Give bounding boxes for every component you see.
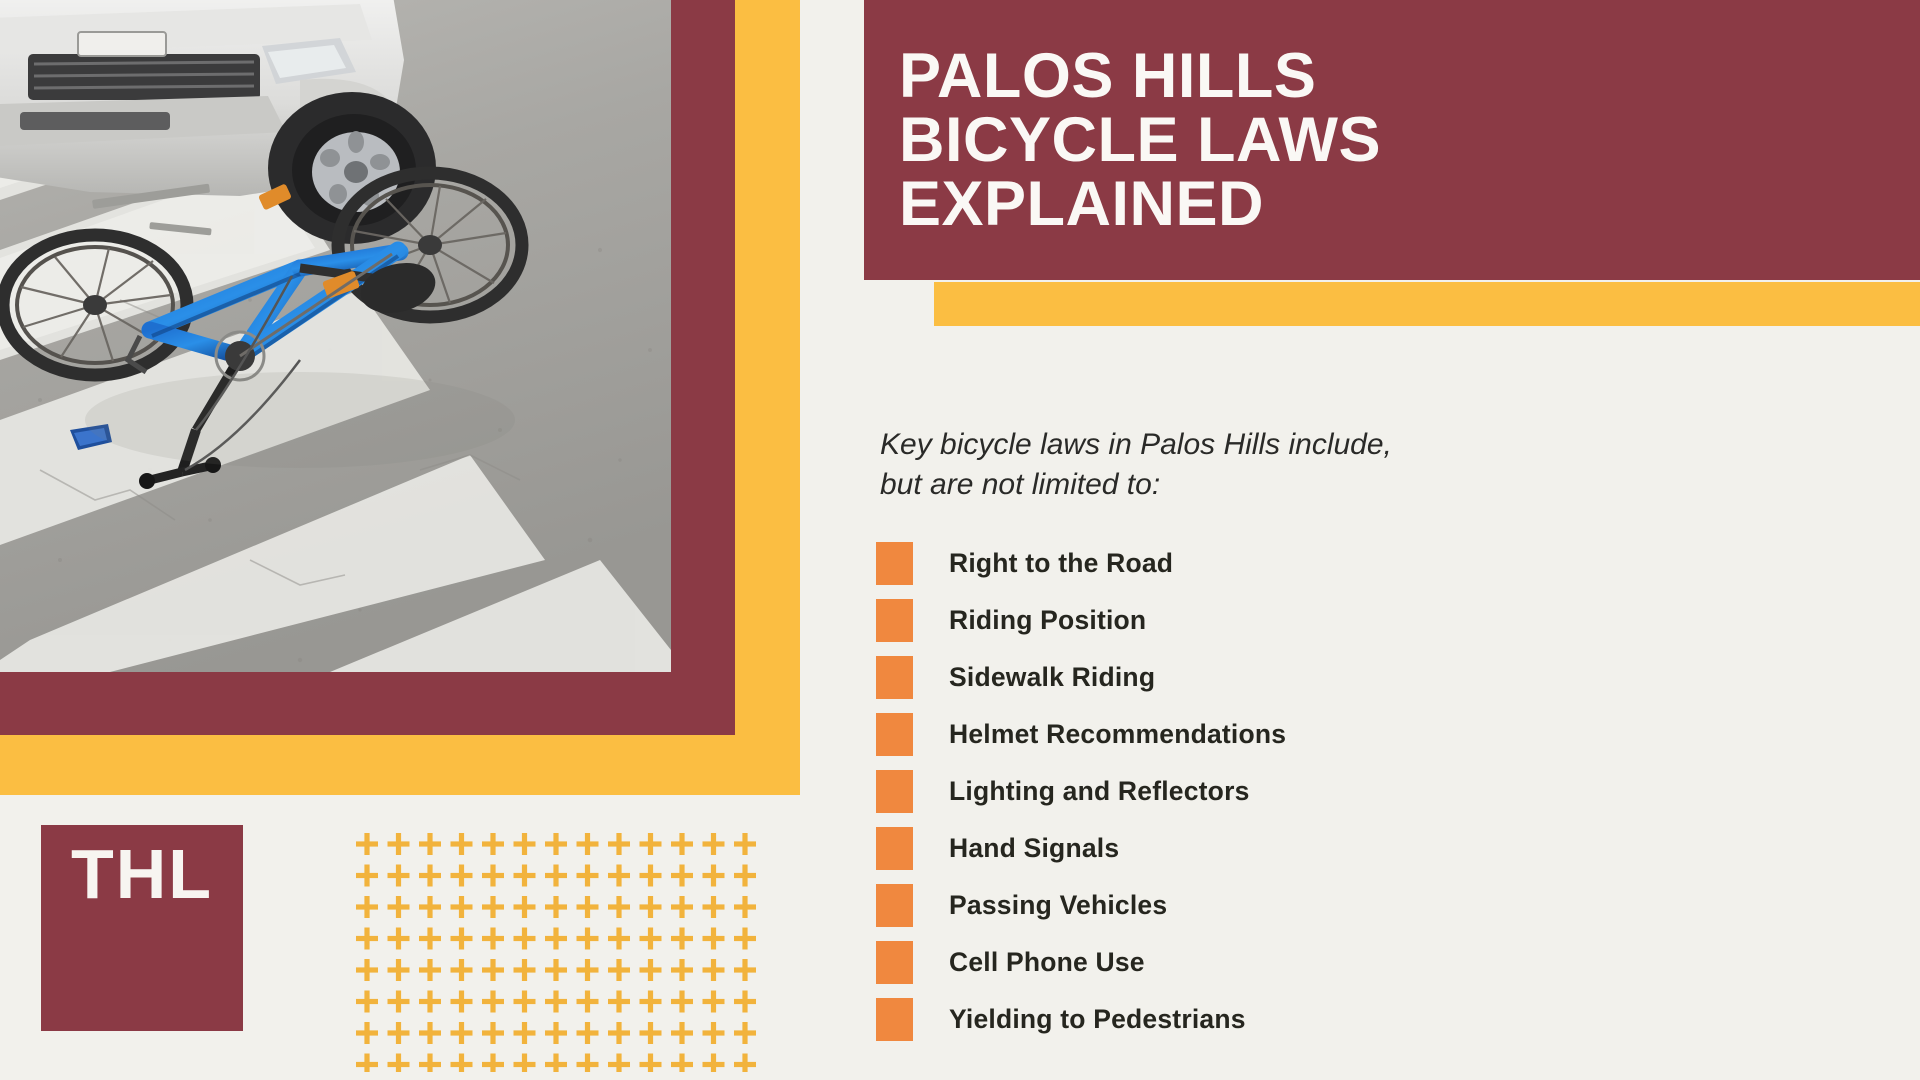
infographic-canvas: PALOS HILLS BICYCLE LAWS EXPLAINED Key b…	[0, 0, 1920, 1080]
square-bullet-icon	[876, 656, 913, 699]
title-accent-bar	[934, 282, 1920, 326]
square-bullet-icon	[876, 713, 913, 756]
list-item: Passing Vehicles	[876, 877, 1776, 934]
list-item: Right to the Road	[876, 535, 1776, 592]
list-item-label: Cell Phone Use	[949, 947, 1145, 978]
square-bullet-icon	[876, 599, 913, 642]
list-item: Riding Position	[876, 592, 1776, 649]
square-bullet-icon	[876, 941, 913, 984]
title-line-3: EXPLAINED	[899, 169, 1264, 239]
list-item-label: Riding Position	[949, 605, 1146, 636]
square-bullet-icon	[876, 998, 913, 1041]
title-line-2: BICYCLE LAWS	[899, 105, 1381, 175]
square-bullet-icon	[876, 770, 913, 813]
title-line-1: PALOS HILLS	[899, 41, 1316, 111]
list-item-label: Lighting and Reflectors	[949, 776, 1250, 807]
square-bullet-icon	[876, 827, 913, 870]
page-title: PALOS HILLS BICYCLE LAWS EXPLAINED	[899, 44, 1381, 237]
logo-text: THL	[71, 839, 213, 909]
list-item: Lighting and Reflectors	[876, 763, 1776, 820]
list-item: Helmet Recommendations	[876, 706, 1776, 763]
list-item-label: Sidewalk Riding	[949, 662, 1155, 693]
list-item-label: Hand Signals	[949, 833, 1119, 864]
photo-frame	[0, 0, 800, 800]
list-item-label: Helmet Recommendations	[949, 719, 1286, 750]
thl-logo: THL	[41, 825, 243, 1031]
list-item: Cell Phone Use	[876, 934, 1776, 991]
square-bullet-icon	[876, 884, 913, 927]
list-item-label: Passing Vehicles	[949, 890, 1167, 921]
square-bullet-icon	[876, 542, 913, 585]
list-item-label: Right to the Road	[949, 548, 1173, 579]
list-item: Yielding to Pedestrians	[876, 991, 1776, 1048]
list-item: Sidewalk Riding	[876, 649, 1776, 706]
bicycle-laws-list: Right to the Road Riding Position Sidewa…	[876, 535, 1776, 1048]
intro-line-2: but are not limited to:	[880, 465, 1640, 505]
crash-photo	[0, 0, 671, 672]
list-item-label: Yielding to Pedestrians	[949, 1004, 1246, 1035]
intro-text: Key bicycle laws in Palos Hills include,…	[880, 425, 1640, 504]
list-item: Hand Signals	[876, 820, 1776, 877]
intro-line-1: Key bicycle laws in Palos Hills include,	[880, 425, 1640, 465]
plus-grid-pattern-icon	[355, 832, 765, 1072]
title-block: PALOS HILLS BICYCLE LAWS EXPLAINED	[864, 0, 1920, 280]
